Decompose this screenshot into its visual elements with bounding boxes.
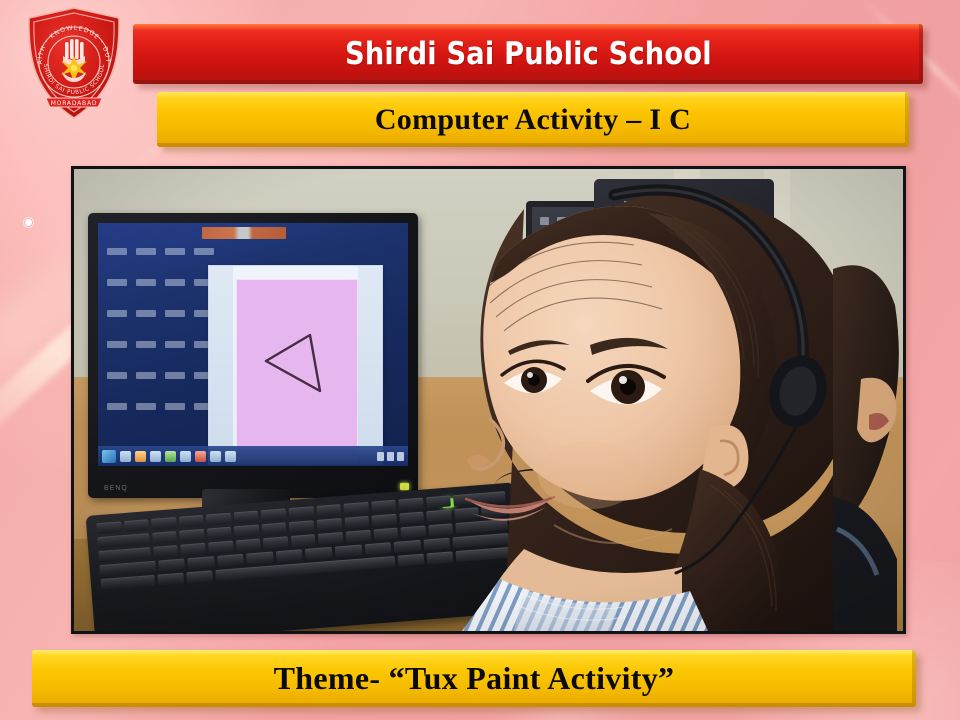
theme-text: Theme- “Tux Paint Activity”	[274, 660, 675, 697]
desktop-icon	[132, 247, 160, 277]
desktop-icon	[103, 402, 131, 432]
desktop-icon	[103, 309, 131, 339]
desktop-icon	[132, 278, 160, 308]
student-portrait	[404, 169, 903, 631]
desktop-icon	[132, 371, 160, 401]
school-name-text: Shirdi Sai Public School	[345, 36, 712, 72]
system-tray[interactable]	[377, 452, 404, 461]
school-crest-logo: FAITH · KNOWLEDGE · DUTY SHIRDI SAI PUBL…	[22, 6, 126, 121]
start-button-icon[interactable]	[102, 450, 116, 463]
screen-top-titlebar	[202, 227, 286, 239]
desktop-icon	[161, 278, 189, 308]
second-student	[833, 229, 903, 631]
taskbar-item[interactable]	[180, 451, 191, 462]
tux-paint-canvas[interactable]	[236, 279, 358, 457]
tux-paint-stamps-rail[interactable]	[358, 266, 382, 464]
monitor-screen	[98, 223, 408, 466]
taskbar-item[interactable]	[210, 451, 221, 462]
activity-photo-frame: BENQ	[71, 166, 906, 634]
svg-text:MORADABAD: MORADABAD	[51, 100, 98, 107]
taskbar-item[interactable]	[150, 451, 161, 462]
slide-canvas: FAITH · KNOWLEDGE · DUTY SHIRDI SAI PUBL…	[0, 0, 960, 720]
activity-title-banner: Computer Activity – I C	[157, 92, 909, 147]
taskbar-item[interactable]	[135, 451, 146, 462]
desktop-icon	[161, 371, 189, 401]
decorative-dot	[24, 218, 33, 227]
desktop-icon	[132, 340, 160, 370]
taskbar-item[interactable]	[120, 451, 131, 462]
tray-icon[interactable]	[387, 452, 394, 461]
desktop-icon	[103, 278, 131, 308]
activity-title-text: Computer Activity – I C	[375, 103, 691, 137]
desktop-icon	[103, 340, 131, 370]
taskbar-item[interactable]	[225, 451, 236, 462]
tray-icon[interactable]	[377, 452, 384, 461]
school-name-banner: Shirdi Sai Public School	[133, 24, 923, 84]
desktop-icon	[132, 309, 160, 339]
desktop-icon	[161, 402, 189, 432]
windows-taskbar[interactable]	[98, 446, 408, 466]
taskbar-item[interactable]	[195, 451, 206, 462]
desktop-icon	[132, 402, 160, 432]
computer-monitor: BENQ	[88, 213, 418, 498]
activity-photo: BENQ	[74, 169, 903, 631]
desktop-icon	[161, 247, 189, 277]
desktop-icon	[103, 247, 131, 277]
tux-paint-window[interactable]	[208, 265, 383, 465]
theme-banner: Theme- “Tux Paint Activity”	[32, 650, 916, 707]
desktop-icon-grid	[103, 247, 223, 432]
taskbar-item[interactable]	[165, 451, 176, 462]
desktop-icon	[161, 340, 189, 370]
desktop-icon	[103, 371, 131, 401]
tux-paint-tools-rail[interactable]	[209, 266, 233, 464]
monitor-brand-mark: BENQ	[104, 485, 128, 492]
desktop-icon	[161, 309, 189, 339]
taskbar-clock	[397, 452, 404, 461]
